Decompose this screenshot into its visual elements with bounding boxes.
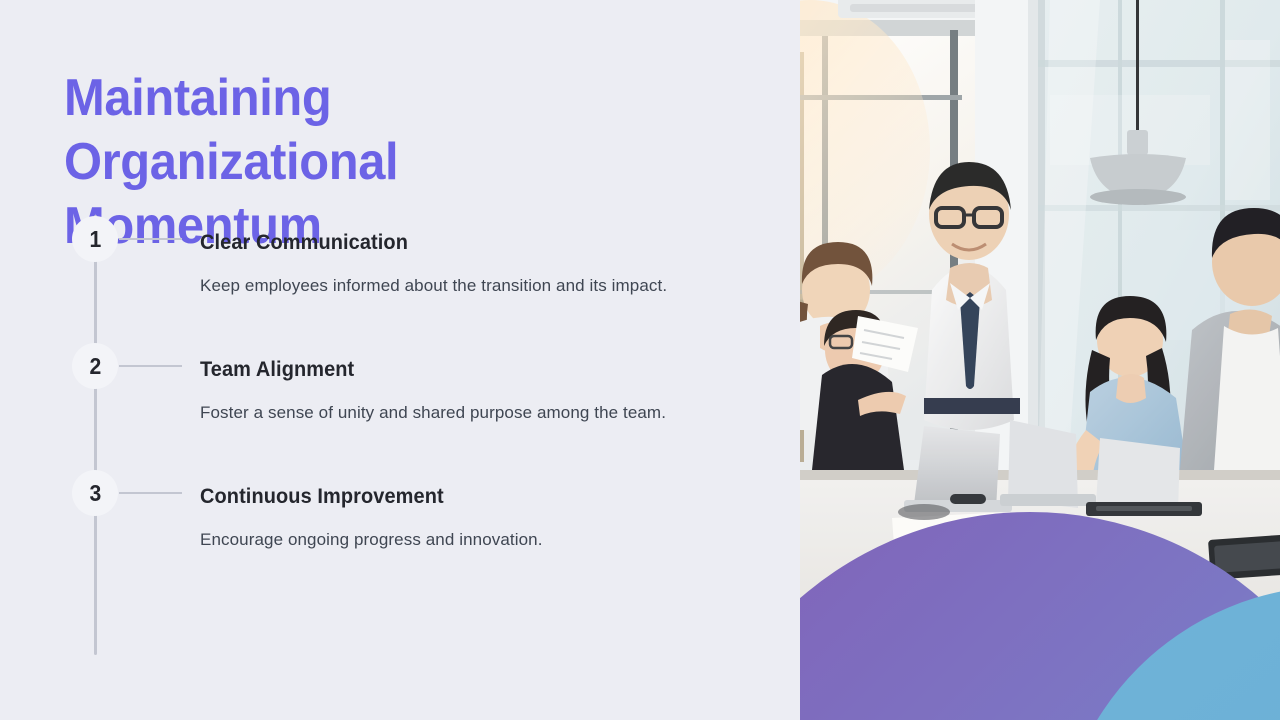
step-number-badge: 3 [72, 470, 118, 516]
step-heading: Clear Communication [200, 230, 736, 256]
step-description: Encourage ongoing progress and innovatio… [200, 524, 724, 555]
timeline-list: 1 Clear Communication Keep employees inf… [64, 212, 764, 555]
step-connector-line [119, 492, 182, 494]
step-description: Foster a sense of unity and shared purpo… [200, 397, 724, 428]
step-number-label: 3 [89, 482, 101, 505]
content-panel: Maintaining Organizational Momentum 1 Cl… [0, 0, 800, 720]
list-item[interactable]: 3 Continuous Improvement Encourage ongoi… [64, 484, 764, 555]
step-heading: Team Alignment [200, 357, 736, 383]
step-number-label: 2 [89, 355, 101, 378]
list-item[interactable]: 1 Clear Communication Keep employees inf… [64, 230, 764, 301]
list-item[interactable]: 2 Team Alignment Foster a sense of unity… [64, 357, 764, 428]
slide: Maintaining Organizational Momentum 1 Cl… [0, 0, 1280, 720]
step-number-badge: 1 [72, 216, 118, 262]
step-connector-line [119, 238, 182, 240]
step-connector-line [119, 365, 182, 367]
media-panel [800, 0, 1280, 720]
step-description: Keep employees informed about the transi… [200, 270, 724, 301]
step-heading: Continuous Improvement [200, 484, 736, 510]
step-number-badge: 2 [72, 343, 118, 389]
step-number-label: 1 [89, 228, 101, 251]
